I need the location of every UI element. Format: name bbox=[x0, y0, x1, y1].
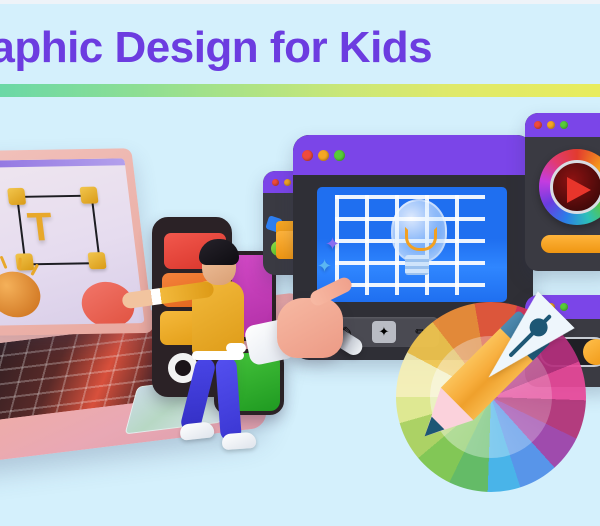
hand-palm bbox=[277, 298, 343, 358]
accent-gradient-rule bbox=[0, 84, 600, 97]
character-shoe-front bbox=[221, 432, 256, 450]
pointing-hand bbox=[255, 282, 365, 360]
window-dot-red[interactable] bbox=[272, 179, 279, 186]
color-apply-bar[interactable] bbox=[541, 235, 600, 253]
color-window-titlebar bbox=[525, 113, 600, 137]
screen-ruler bbox=[0, 158, 125, 168]
color-picker-window[interactable] bbox=[525, 113, 600, 271]
resize-handle-tr bbox=[79, 187, 98, 204]
window-dot-red[interactable] bbox=[534, 121, 542, 129]
color-wheel-triangle bbox=[567, 177, 591, 203]
header-band: Graphic Design for Kids bbox=[0, 4, 600, 84]
character-leg-front bbox=[215, 356, 242, 441]
text-glyph: T bbox=[26, 207, 55, 247]
color-wheel[interactable] bbox=[539, 149, 600, 225]
resize-handle-br bbox=[88, 252, 107, 269]
app-window-titlebar bbox=[293, 135, 533, 175]
window-dot-red[interactable] bbox=[302, 150, 313, 161]
page-title: Graphic Design for Kids bbox=[0, 22, 600, 74]
color-wheel-inner[interactable] bbox=[550, 160, 600, 214]
character-sleeve-cuff bbox=[226, 343, 246, 353]
page-root: Graphic Design for Kids T bbox=[0, 0, 600, 526]
window-dot-orange[interactable] bbox=[547, 121, 555, 129]
hero-illustration: T bbox=[0, 97, 600, 526]
resize-handle-tl bbox=[7, 188, 26, 205]
pencil-pen-colorwheel-icon bbox=[396, 302, 586, 492]
window-dot-orange[interactable] bbox=[284, 179, 291, 186]
window-dot-orange[interactable] bbox=[318, 150, 329, 161]
sparkle-icon-blue: ✦ bbox=[317, 257, 332, 275]
sparkle-icon-purple: ✦ bbox=[325, 235, 340, 253]
lightbulb-base bbox=[405, 255, 429, 275]
character-shoe-back bbox=[179, 421, 214, 440]
lightbulb-filament bbox=[405, 227, 437, 251]
lightbulb-icon bbox=[391, 199, 447, 263]
magic-wand-tool-icon[interactable]: ✦ bbox=[372, 321, 396, 343]
window-dot-green[interactable] bbox=[560, 121, 568, 129]
window-dot-green[interactable] bbox=[334, 150, 345, 161]
character-hair bbox=[199, 239, 239, 265]
